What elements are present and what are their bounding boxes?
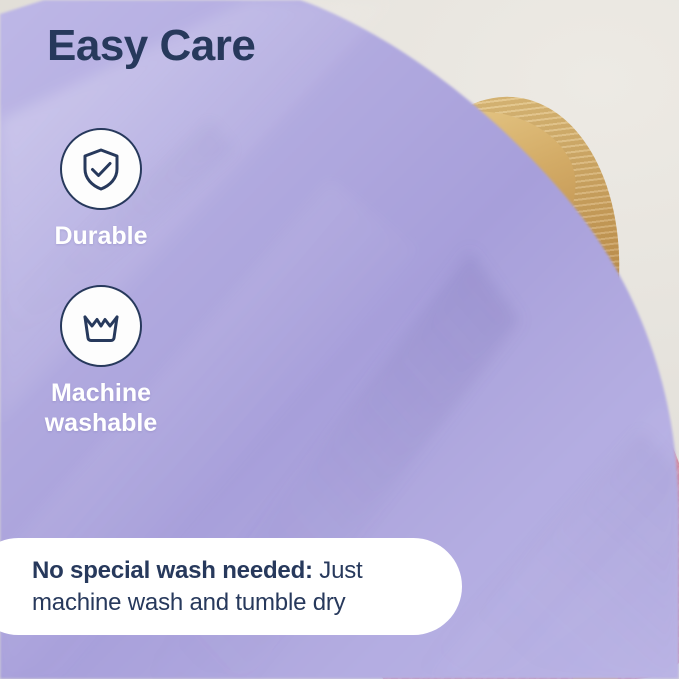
caption-banner: No special wash needed: Just machine was… [0, 538, 462, 635]
wash-tub-icon [60, 285, 142, 367]
product-feature-card: Easy Care Durable Machine washable No sp… [0, 0, 679, 679]
caption-bold: No special wash needed: [32, 557, 313, 584]
shield-check-icon [60, 128, 142, 210]
feature-label-machine-washable: Machine washable [45, 379, 158, 438]
caption-text: No special wash needed: Just machine was… [32, 555, 436, 619]
page-title: Easy Care [47, 22, 255, 70]
feature-label-durable: Durable [54, 222, 147, 252]
feature-machine-washable: Machine washable [49, 285, 153, 438]
feature-durable: Durable [49, 128, 153, 252]
